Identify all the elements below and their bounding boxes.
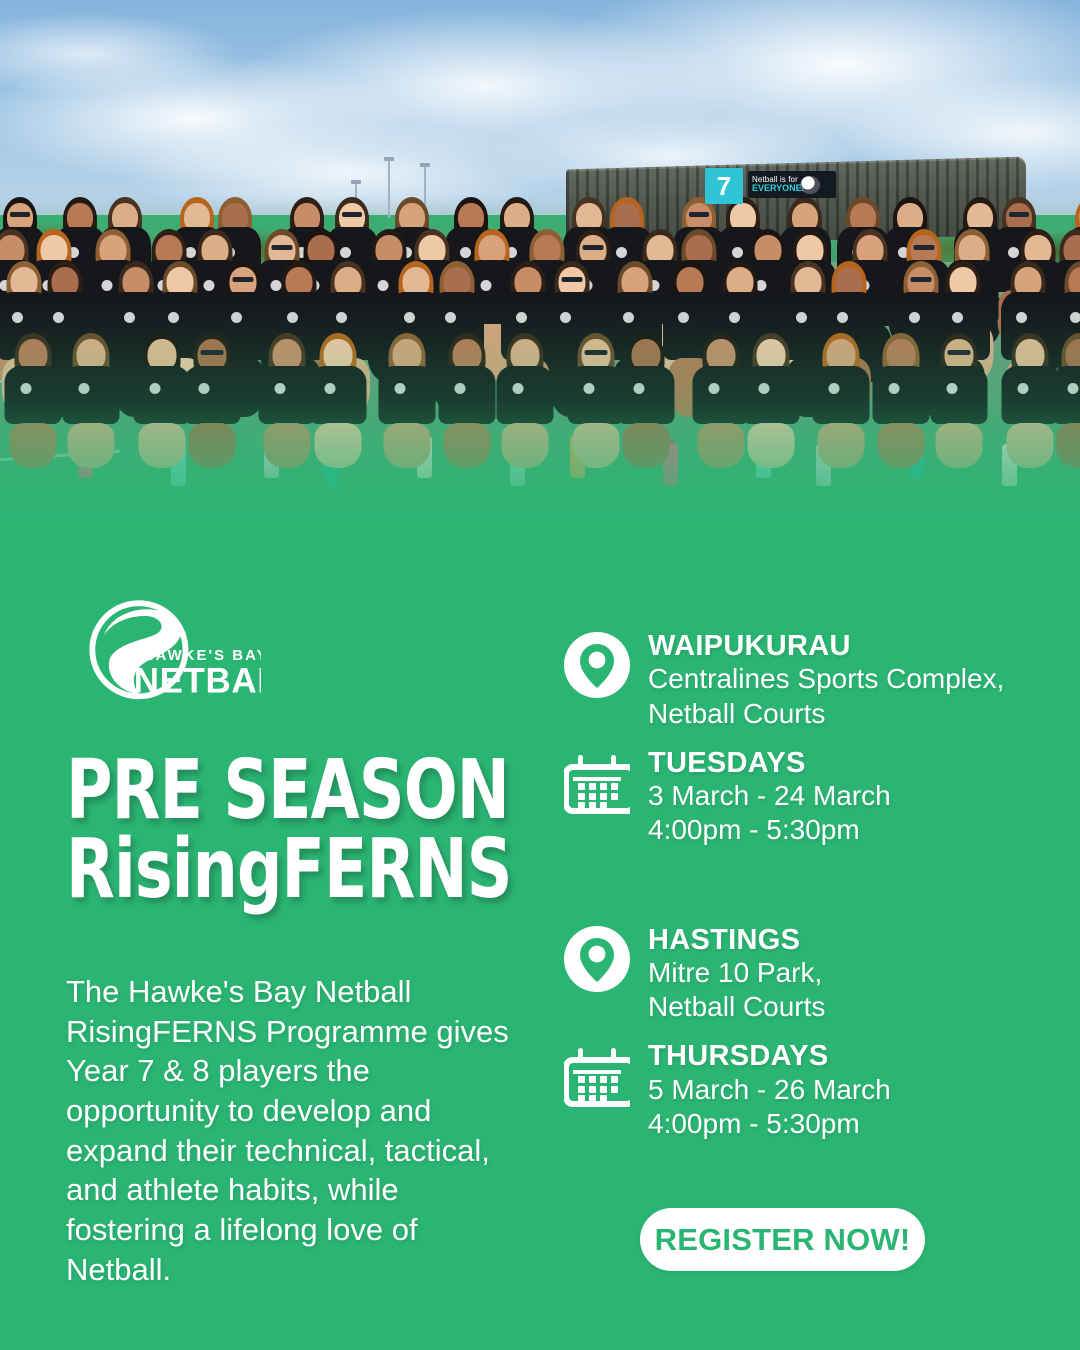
map-pin-icon — [560, 628, 634, 702]
shirt-logo-icon — [1018, 383, 1029, 394]
banner-line-2: EVERYONE! — [752, 184, 805, 194]
shirt-logo-icon — [947, 383, 958, 394]
player-figure — [439, 336, 496, 481]
shirt-logo-icon — [231, 312, 242, 323]
shirt-logo-icon — [325, 383, 336, 394]
schedule-date-range: 3 March - 24 March — [648, 779, 891, 813]
player-legs — [698, 423, 745, 468]
poster-root: 7 Netball is for EVERYONE! HAWKE'S BAY — [0, 0, 1080, 1350]
player-figure — [813, 336, 870, 481]
schedule-text: THURSDAYS 5 March - 26 March 4:00pm - 5:… — [634, 1038, 891, 1141]
venue-row: WAIPUKURAU Centralines Sports Complex, N… — [560, 628, 1030, 731]
shirt-logo-icon — [21, 383, 32, 394]
team-group — [0, 186, 1080, 486]
player-sunglasses — [914, 245, 935, 250]
shirt-logo-icon — [1067, 383, 1078, 394]
shirt-logo-icon — [378, 280, 389, 291]
venue-text: WAIPUKURAU Centralines Sports Complex, N… — [634, 628, 1004, 731]
headline-line-2: RisingFERNS — [66, 831, 513, 910]
player-legs — [139, 423, 186, 468]
player-figure — [5, 336, 62, 481]
sessions-list: WAIPUKURAU Centralines Sports Complex, N… — [560, 628, 1030, 1141]
player-figure — [693, 336, 750, 481]
shirt-logo-icon — [336, 312, 347, 323]
venue-address-line-2: Netball Courts — [648, 990, 825, 1024]
player-sunglasses — [232, 277, 253, 282]
shirt-logo-icon — [445, 312, 456, 323]
player-shirt — [183, 366, 240, 424]
player-legs — [1007, 423, 1054, 468]
shirt-logo-icon — [709, 383, 720, 394]
session-block-waipukurau: WAIPUKURAU Centralines Sports Complex, N… — [560, 628, 1030, 848]
hero-photo: 7 Netball is for EVERYONE! — [0, 0, 1080, 600]
shirt-logo-icon — [678, 312, 689, 323]
shirt-logo-icon — [512, 383, 523, 394]
player-legs — [10, 423, 57, 468]
schedule-row: TUESDAYS 3 March - 24 March 4:00pm - 5:3… — [560, 745, 1030, 848]
shirt-logo-icon — [633, 383, 644, 394]
shirt-logo-icon — [909, 312, 920, 323]
player-shirt — [439, 366, 496, 424]
player-legs — [622, 423, 669, 468]
player-sunglasses — [271, 245, 292, 250]
shirt-logo-icon — [199, 383, 210, 394]
player-figure — [309, 336, 366, 481]
player-figure — [872, 336, 929, 481]
venue-name: HASTINGS — [648, 924, 825, 956]
venue-address-line-1: Mitre 10 Park, — [648, 956, 825, 990]
logo-bottom-text: NETBALL — [134, 661, 261, 700]
venue-name: WAIPUKURAU — [648, 630, 1004, 662]
player-legs — [501, 423, 548, 468]
player-figure — [496, 336, 553, 481]
player-shirt — [378, 366, 435, 424]
programme-description: The Hawke's Bay Netball RisingFERNS Prog… — [66, 972, 526, 1289]
shirt-logo-icon — [560, 312, 571, 323]
shirt-logo-icon — [124, 312, 135, 323]
shirt-logo-icon — [1016, 312, 1027, 323]
player-legs — [314, 423, 361, 468]
schedule-time-range: 4:00pm - 5:30pm — [648, 813, 891, 847]
player-shirt — [743, 366, 800, 424]
shirt-logo-icon — [168, 312, 179, 323]
player-figure — [743, 336, 800, 481]
player-legs — [1056, 423, 1080, 468]
calendar-icon — [560, 745, 634, 819]
shirt-logo-icon — [516, 312, 527, 323]
player-sunglasses — [585, 350, 608, 355]
shirt-logo-icon — [1070, 312, 1080, 323]
shirt-logo-icon — [729, 312, 740, 323]
player-figure — [1002, 336, 1059, 481]
player-legs — [748, 423, 795, 468]
headline-line-1: PRE SEASON — [66, 752, 513, 831]
player-shirt — [617, 366, 674, 424]
shirt-logo-icon — [829, 383, 840, 394]
player-legs — [818, 423, 865, 468]
banner-ball-logo-icon — [800, 176, 820, 194]
netball-everyone-banner: Netball is for EVERYONE! — [748, 171, 836, 198]
shirt-logo-icon — [796, 312, 807, 323]
schedule-day: THURSDAYS — [648, 1040, 891, 1072]
shirt-logo-icon — [404, 312, 415, 323]
register-now-button[interactable]: REGISTER NOW! — [640, 1208, 925, 1271]
court-number-sign: 7 — [705, 168, 743, 204]
shirt-logo-icon — [53, 312, 64, 323]
player-sunglasses — [561, 277, 582, 282]
map-pin-icon — [560, 922, 634, 996]
info-panel: HAWKE'S BAY NETBALL PRE SEASON RisingFER… — [0, 560, 1080, 1350]
player-figure — [1051, 336, 1080, 481]
player-shirt — [1002, 366, 1059, 424]
player-legs — [188, 423, 235, 468]
shirt-logo-icon — [623, 312, 634, 323]
hawkes-bay-netball-logo: HAWKE'S BAY NETBALL — [66, 598, 261, 708]
player-figure — [183, 336, 240, 481]
shirt-logo-icon — [455, 383, 466, 394]
shirt-logo-icon — [888, 383, 899, 394]
player-sunglasses — [10, 212, 30, 217]
venue-address-line-2: Netball Courts — [648, 697, 1004, 731]
schedule-day: TUESDAYS — [648, 747, 891, 779]
player-shirt — [931, 366, 988, 424]
player-shirt — [813, 366, 870, 424]
player-sunglasses — [1009, 212, 1029, 217]
player-shirt — [62, 366, 119, 424]
shirt-logo-icon — [12, 312, 23, 323]
player-figure — [378, 336, 435, 481]
player-shirt — [309, 366, 366, 424]
player-shirt — [259, 366, 316, 424]
schedule-date-range: 5 March - 26 March — [648, 1073, 891, 1107]
player-figure — [62, 336, 119, 481]
shirt-logo-icon — [78, 383, 89, 394]
shirt-logo-icon — [275, 383, 286, 394]
venue-row: HASTINGS Mitre 10 Park, Netball Courts — [560, 922, 1030, 1025]
player-shirt — [872, 366, 929, 424]
player-sunglasses — [342, 212, 362, 217]
schedule-row: THURSDAYS 5 March - 26 March 4:00pm - 5:… — [560, 1038, 1030, 1141]
player-legs — [383, 423, 430, 468]
session-block-hastings: HASTINGS Mitre 10 Park, Netball Courts — [560, 922, 1030, 1142]
shirt-logo-icon — [287, 312, 298, 323]
player-shirt — [496, 366, 553, 424]
player-figure — [259, 336, 316, 481]
player-legs — [573, 423, 620, 468]
player-shirt — [1051, 366, 1080, 424]
player-figure — [617, 336, 674, 481]
shirt-logo-icon — [584, 383, 595, 394]
calendar-icon — [560, 1038, 634, 1112]
player-sunglasses — [910, 277, 931, 282]
schedule-text: TUESDAYS 3 March - 24 March 4:00pm - 5:3… — [634, 745, 891, 848]
player-legs — [444, 423, 491, 468]
player-shirt — [693, 366, 750, 424]
player-sunglasses — [200, 350, 223, 355]
player-legs — [877, 423, 924, 468]
player-legs — [264, 423, 311, 468]
player-sunglasses — [948, 350, 971, 355]
shirt-logo-icon — [150, 383, 161, 394]
shirt-logo-icon — [952, 312, 963, 323]
player-sunglasses — [689, 212, 709, 217]
venue-address-line-1: Centralines Sports Complex, — [648, 662, 1004, 696]
page-title: PRE SEASON RisingFERNS — [66, 752, 513, 909]
player-shirt — [5, 366, 62, 424]
shirt-logo-icon — [759, 383, 770, 394]
player-figure — [931, 336, 988, 481]
schedule-time-range: 4:00pm - 5:30pm — [648, 1107, 891, 1141]
venue-text: HASTINGS Mitre 10 Park, Netball Courts — [634, 922, 825, 1025]
player-legs — [936, 423, 983, 468]
shirt-logo-icon — [394, 383, 405, 394]
player-sunglasses — [583, 245, 604, 250]
shirt-logo-icon — [837, 312, 848, 323]
player-legs — [67, 423, 114, 468]
